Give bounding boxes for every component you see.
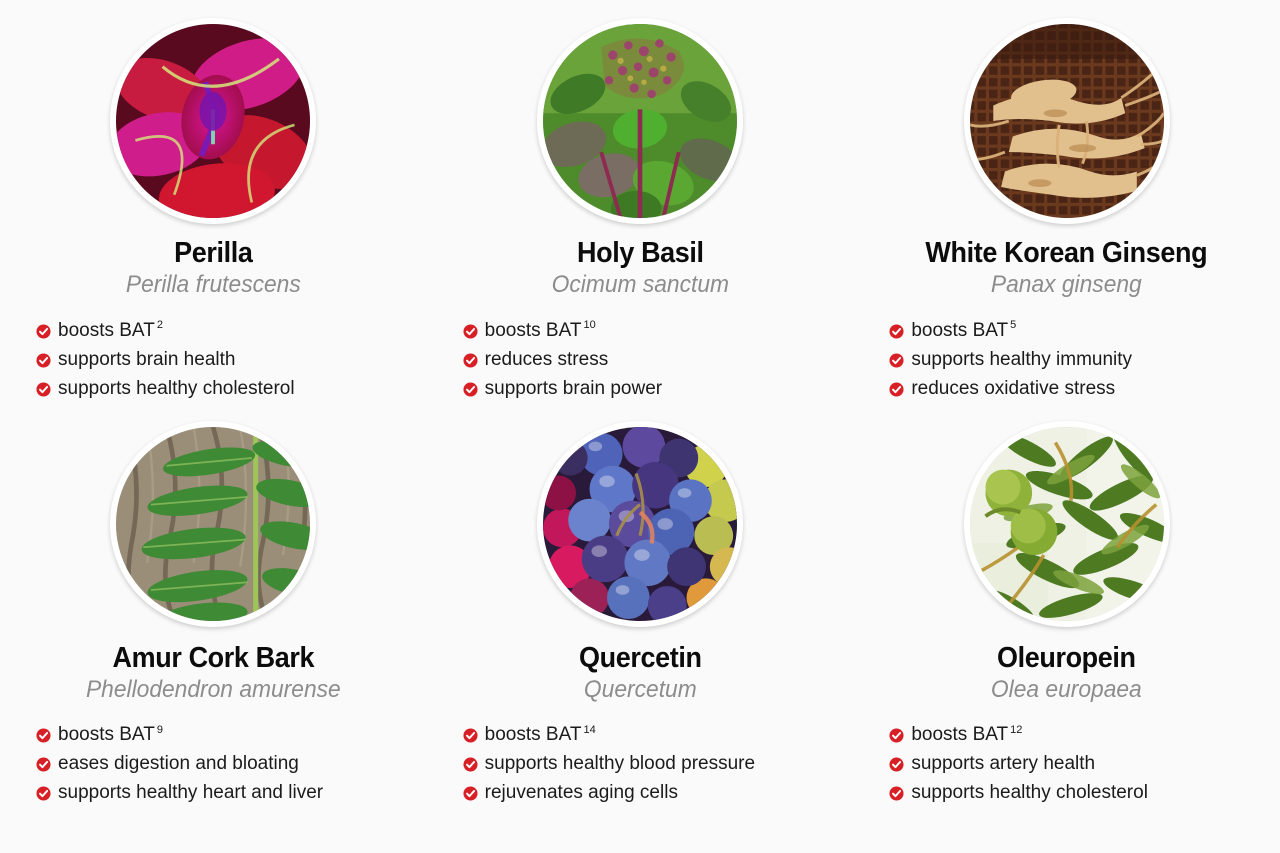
ingredient-latin-name: Quercetum <box>456 676 823 704</box>
benefit-label: boosts BAT <box>485 320 582 341</box>
benefit-label: eases digestion and bloating <box>58 753 299 774</box>
benefit-label: supports healthy cholesterol <box>58 378 295 399</box>
benefit-reference-number: 2 <box>157 319 163 331</box>
ingredient-benefit-list: boosts BAT9eases digestion and bloatings… <box>20 722 407 809</box>
benefit-label: boosts BAT <box>58 724 155 745</box>
benefit-item: reduces stress <box>463 347 834 374</box>
check-circle-icon <box>889 757 904 772</box>
ingredient-card: White Korean GinsengPanax ginsengboosts … <box>853 18 1280 421</box>
ingredient-card: PerillaPerilla frutescensboosts BAT2supp… <box>0 18 427 421</box>
check-circle-icon <box>36 757 51 772</box>
holy-basil-plant-photo <box>543 24 737 218</box>
ingredient-latin-name: Ocimum sanctum <box>456 271 823 299</box>
ingredient-common-name: Amur Cork Bark <box>34 643 394 674</box>
check-circle-icon <box>889 728 904 743</box>
ingredient-common-name: Holy Basil <box>460 238 820 269</box>
check-circle-icon <box>36 382 51 397</box>
benefit-item: boosts BAT10 <box>463 318 834 345</box>
benefit-text: supports healthy cholesterol <box>911 780 1148 807</box>
ingredient-latin-name: Phellodendron amurense <box>30 676 397 704</box>
check-circle-icon <box>889 786 904 801</box>
benefit-text: rejuvenates aging cells <box>485 780 678 807</box>
check-circle-icon <box>463 324 478 339</box>
benefit-text: boosts BAT14 <box>485 722 596 749</box>
benefit-text: boosts BAT5 <box>911 318 1016 345</box>
perilla-leaves-photo <box>116 24 310 218</box>
benefit-reference-number: 14 <box>583 724 595 736</box>
benefit-label: reduces stress <box>485 349 609 370</box>
ingredient-name-block: White Korean GinsengPanax ginseng <box>873 238 1260 300</box>
benefit-label: supports brain health <box>58 349 235 370</box>
ingredient-name-block: QuercetinQuercetum <box>447 643 834 705</box>
ingredient-common-name: Quercetin <box>460 643 820 674</box>
benefit-label: supports brain power <box>485 378 662 399</box>
ingredient-card: Amur Cork BarkPhellodendron amurenseboos… <box>0 421 427 824</box>
benefit-item: supports healthy blood pressure <box>463 751 834 778</box>
benefit-item: supports healthy heart and liver <box>36 780 407 807</box>
benefit-item: supports healthy cholesterol <box>889 780 1260 807</box>
benefit-item: supports brain health <box>36 347 407 374</box>
benefit-item: supports healthy cholesterol <box>36 376 407 403</box>
olive-branch-photo <box>970 427 1164 621</box>
ingredient-photo-ring <box>537 421 743 627</box>
benefit-item: supports healthy immunity <box>889 347 1260 374</box>
benefit-label: supports healthy immunity <box>911 349 1132 370</box>
ingredient-latin-name: Olea europaea <box>883 676 1250 704</box>
benefit-text: supports healthy immunity <box>911 347 1132 374</box>
ingredient-benefit-list: boosts BAT5supports healthy immunityredu… <box>873 318 1260 405</box>
benefit-text: supports healthy blood pressure <box>485 751 755 778</box>
ingredient-card: OleuropeinOlea europaeaboosts BAT12suppo… <box>853 421 1280 824</box>
benefit-label: boosts BAT <box>58 320 155 341</box>
benefit-label: rejuvenates aging cells <box>485 782 678 803</box>
benefit-item: supports artery health <box>889 751 1260 778</box>
benefit-reference-number: 9 <box>157 724 163 736</box>
ingredient-photo-ring <box>110 18 316 224</box>
benefit-reference-number: 10 <box>583 319 595 331</box>
benefit-item: supports brain power <box>463 376 834 403</box>
ingredient-name-block: PerillaPerilla frutescens <box>20 238 407 300</box>
benefit-item: eases digestion and bloating <box>36 751 407 778</box>
benefit-text: supports artery health <box>911 751 1095 778</box>
benefit-item: boosts BAT12 <box>889 722 1260 749</box>
ingredient-photo-ring <box>964 421 1170 627</box>
benefit-text: boosts BAT9 <box>58 722 163 749</box>
ingredient-photo-ring <box>537 18 743 224</box>
ingredient-common-name: Oleuropein <box>887 643 1247 674</box>
benefit-reference-number: 12 <box>1010 724 1022 736</box>
benefit-reference-number: 5 <box>1010 319 1016 331</box>
ingredient-latin-name: Perilla frutescens <box>30 271 397 299</box>
benefit-label: boosts BAT <box>485 724 582 745</box>
benefit-label: reduces oxidative stress <box>911 378 1115 399</box>
benefit-text: supports brain health <box>58 347 235 374</box>
check-circle-icon <box>889 324 904 339</box>
ingredient-benefit-list: boosts BAT2supports brain healthsupports… <box>20 318 407 405</box>
benefit-label: supports artery health <box>911 753 1095 774</box>
check-circle-icon <box>36 786 51 801</box>
benefit-text: boosts BAT12 <box>911 722 1022 749</box>
check-circle-icon <box>463 728 478 743</box>
benefit-item: boosts BAT14 <box>463 722 834 749</box>
ingredient-common-name: Perilla <box>34 238 394 269</box>
ingredient-benefit-list: boosts BAT12supports artery healthsuppor… <box>873 722 1260 809</box>
check-circle-icon <box>36 353 51 368</box>
benefit-text: reduces oxidative stress <box>911 376 1115 403</box>
benefit-text: boosts BAT10 <box>485 318 596 345</box>
benefit-item: boosts BAT2 <box>36 318 407 345</box>
check-circle-icon <box>36 324 51 339</box>
benefit-text: supports healthy heart and liver <box>58 780 323 807</box>
check-circle-icon <box>889 353 904 368</box>
benefit-text: supports healthy cholesterol <box>58 376 295 403</box>
check-circle-icon <box>463 757 478 772</box>
ingredient-name-block: Holy BasilOcimum sanctum <box>447 238 834 300</box>
benefit-item: boosts BAT5 <box>889 318 1260 345</box>
ingredient-grid: PerillaPerilla frutescensboosts BAT2supp… <box>0 0 1280 853</box>
benefit-item: rejuvenates aging cells <box>463 780 834 807</box>
benefit-label: supports healthy blood pressure <box>485 753 755 774</box>
benefit-text: reduces stress <box>485 347 609 374</box>
benefit-label: supports healthy heart and liver <box>58 782 323 803</box>
check-circle-icon <box>463 353 478 368</box>
benefit-label: supports healthy cholesterol <box>911 782 1148 803</box>
ingredient-card: Holy BasilOcimum sanctumboosts BAT10redu… <box>427 18 854 421</box>
ingredient-benefit-list: boosts BAT10reduces stresssupports brain… <box>447 318 834 405</box>
benefit-text: boosts BAT2 <box>58 318 163 345</box>
check-circle-icon <box>889 382 904 397</box>
check-circle-icon <box>463 382 478 397</box>
ingredient-name-block: OleuropeinOlea europaea <box>873 643 1260 705</box>
ingredient-card: QuercetinQuercetumboosts BAT14supports h… <box>427 421 854 824</box>
ingredient-photo-ring <box>964 18 1170 224</box>
ingredient-latin-name: Panax ginseng <box>883 271 1250 299</box>
check-circle-icon <box>463 786 478 801</box>
ingredient-photo-ring <box>110 421 316 627</box>
benefit-item: boosts BAT9 <box>36 722 407 749</box>
ingredient-name-block: Amur Cork BarkPhellodendron amurense <box>20 643 407 705</box>
benefit-item: reduces oxidative stress <box>889 376 1260 403</box>
benefit-label: boosts BAT <box>911 724 1008 745</box>
benefit-text: supports brain power <box>485 376 662 403</box>
amur-cork-bark-photo <box>116 427 310 621</box>
grapes-photo <box>543 427 737 621</box>
check-circle-icon <box>36 728 51 743</box>
ingredient-common-name: White Korean Ginseng <box>887 238 1247 269</box>
ingredient-benefit-list: boosts BAT14supports healthy blood press… <box>447 722 834 809</box>
benefit-label: boosts BAT <box>911 320 1008 341</box>
benefit-text: eases digestion and bloating <box>58 751 299 778</box>
ginseng-roots-photo <box>970 24 1164 218</box>
